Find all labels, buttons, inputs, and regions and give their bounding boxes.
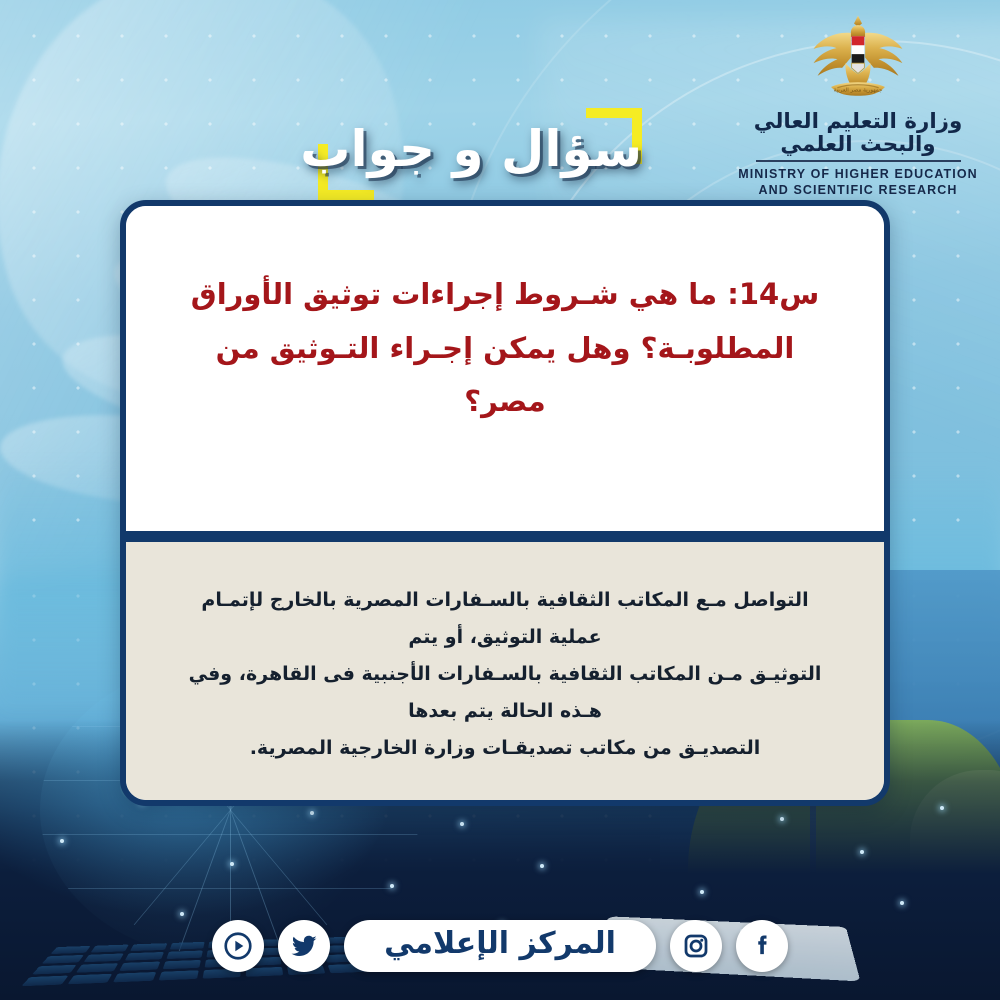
egypt-eagle-emblem-icon: جمهورية مصر العربية	[810, 14, 906, 106]
social-footer: المركز الإعلامي	[0, 920, 1000, 973]
answer-section: التواصل مـع المكاتب الثقافية بالسـفارات …	[126, 542, 884, 800]
answer-line-3: التصديـق من مكاتب تصديقـات وزارة الخارجي…	[184, 730, 826, 767]
instagram-icon[interactable]	[670, 920, 722, 972]
ministry-name-arabic: وزارة التعليم العالي والبحث العلمي	[736, 110, 981, 156]
media-center-label: المركز الإعلامي	[384, 927, 616, 962]
facebook-icon[interactable]	[736, 920, 788, 972]
svg-text:جمهورية مصر العربية: جمهورية مصر العربية	[834, 88, 883, 94]
twitter-icon[interactable]	[278, 920, 330, 972]
media-center-pill[interactable]: المركز الإعلامي	[344, 920, 656, 973]
page-title: سؤال و جواب	[318, 118, 642, 181]
ministry-name-english-line2: AND SCIENTIFIC RESEARCH	[738, 182, 978, 199]
youtube-icon[interactable]	[212, 920, 264, 972]
question-section: س14: ما هي شـروط إجراءات توثيق الأوراق ا…	[126, 206, 884, 531]
poster-canvas: جمهورية مصر العربية وزارة التعليم العالي…	[0, 0, 1000, 1000]
logo-divider	[756, 160, 961, 161]
qa-card: س14: ما هي شـروط إجراءات توثيق الأوراق ا…	[120, 200, 890, 806]
answer-text: التواصل مـع المكاتب الثقافية بالسـفارات …	[184, 582, 826, 767]
ministry-name-english-line1: MINISTRY OF HIGHER EDUCATION	[738, 166, 978, 183]
question-line-1: س14: ما هي شـروط إجراءات توثيق الأوراق	[175, 268, 835, 322]
poster-title-block: سؤال و جواب	[318, 108, 642, 196]
ministry-logo: جمهورية مصر العربية وزارة التعليم العالي…	[738, 14, 978, 199]
question-line-2: المطلوبـة؟ وهل يمكن إجـراء التـوثيق من م…	[175, 322, 835, 429]
question-text: س14: ما هي شـروط إجراءات توثيق الأوراق ا…	[175, 268, 835, 429]
answer-line-2: التوثيـق مـن المكاتب الثقافية بالسـفارات…	[184, 656, 826, 730]
answer-line-1: التواصل مـع المكاتب الثقافية بالسـفارات …	[184, 582, 826, 656]
card-divider	[126, 531, 884, 542]
